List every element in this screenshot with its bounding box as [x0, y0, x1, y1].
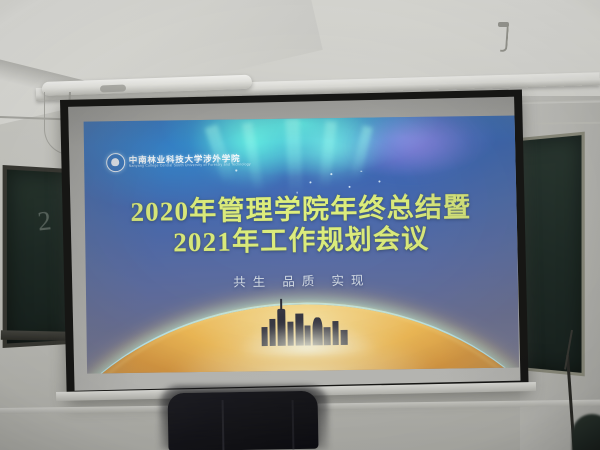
aurora-glow-right	[351, 116, 473, 179]
projection-screen[interactable]: 中南林业科技大学涉外学院 Nanyang College Central Sou…	[60, 90, 529, 400]
office-chair[interactable]	[168, 391, 319, 450]
projected-slide: 中南林业科技大学涉外学院 Nanyang College Central Sou…	[84, 116, 519, 374]
university-logo: 中南林业科技大学涉外学院 Nanyang College Central Sou…	[106, 151, 251, 172]
screen-surface: 中南林业科技大学涉外学院 Nanyang College Central Sou…	[68, 97, 520, 391]
slide-title: 2020年管理学院年终总结暨 2021年工作规划会议	[85, 191, 518, 261]
slide-subtitle: 共生 品质 实现	[86, 268, 518, 293]
title-line-2: 2021年工作规划会议	[85, 223, 517, 261]
title-line-1: 2020年管理学院年终总结暨	[85, 191, 517, 229]
photograph: 2	[0, 0, 600, 450]
university-emblem-icon	[106, 153, 125, 172]
logo-english-name: Nanyang College Central South University…	[129, 163, 251, 169]
roller-knob	[100, 85, 126, 93]
city-light-glow	[233, 319, 380, 356]
